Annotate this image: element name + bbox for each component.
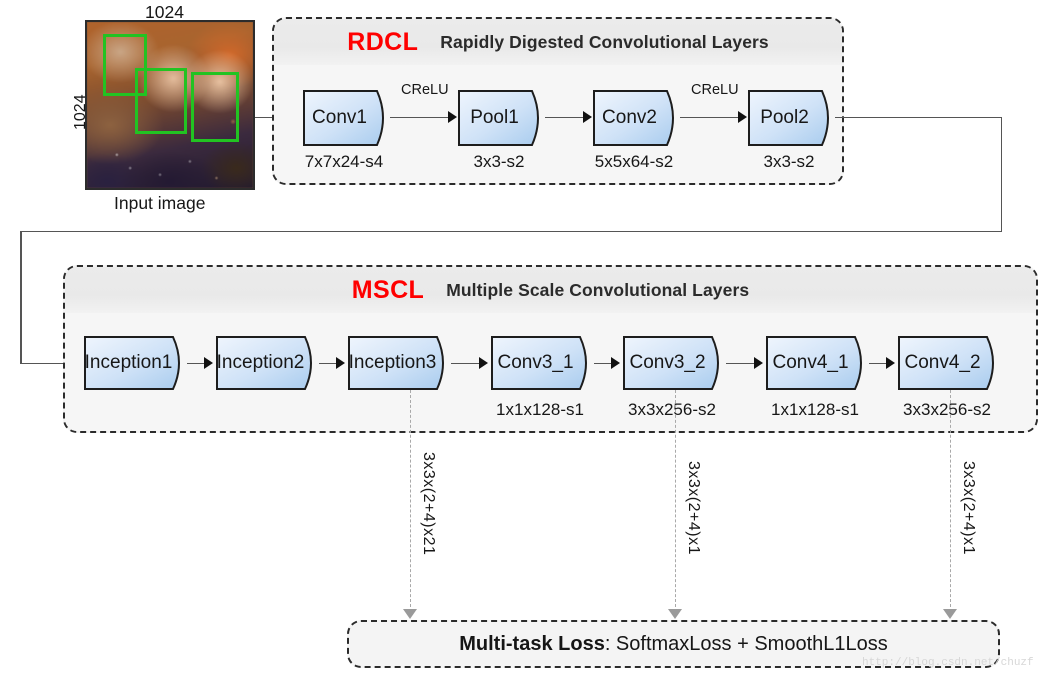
arrow-conv2-pool2 (738, 111, 747, 123)
arrow-pool1-conv2 (583, 111, 592, 123)
wire-conv1-pool1 (390, 117, 455, 119)
layer-shape (766, 336, 876, 390)
layer-spec-pool1: 3x3-s2 (442, 152, 556, 172)
branch-line-inception3 (410, 390, 411, 612)
watermark: http://blog.csdn.net/chuzf (862, 657, 1034, 669)
face-bounding-box (135, 68, 187, 134)
loss-body: : SoftmaxLoss + SmoothL1Loss (605, 633, 888, 655)
input-image (85, 20, 255, 190)
layer-conv3_2[interactable]: Conv3_2 (623, 336, 721, 390)
branch-label-conv4_2: 3x3x(2+4)x1 (959, 461, 977, 555)
wire-pool2-right (835, 117, 1002, 119)
rdcl-full-name: Rapidly Digested Convolutional Layers (440, 32, 768, 53)
layer-conv3_1[interactable]: Conv3_1 (491, 336, 589, 390)
layer-inception2[interactable]: Inception2 (216, 336, 314, 390)
layer-shape (748, 90, 840, 146)
layer-shape (898, 336, 1008, 390)
layer-spec-conv1: 7x7x24-s4 (287, 152, 401, 172)
mscl-full-name: Multiple Scale Convolutional Layers (446, 280, 749, 301)
branch-line-conv3_2 (675, 390, 676, 612)
layer-shape (216, 336, 326, 390)
layer-shape (84, 336, 194, 390)
layer-shape (491, 336, 601, 390)
layer-spec-conv3_2: 3x3x256-s2 (613, 400, 731, 420)
layer-shape (623, 336, 733, 390)
arrow-conv1-pool1 (448, 111, 457, 123)
layer-inception1[interactable]: Inception1 (84, 336, 182, 390)
mscl-acronym: MSCL (352, 276, 424, 305)
layer-shape (593, 90, 685, 146)
arrow-conv3_2-conv4_1 (754, 357, 763, 369)
wire-left-down (20, 231, 22, 364)
activation-crelu-2: CReLU (691, 82, 739, 98)
layer-spec-conv3_1: 1x1x128-s1 (481, 400, 599, 420)
layer-shape (348, 336, 458, 390)
branch-arrow-inception3 (403, 609, 417, 619)
layer-conv4_2[interactable]: Conv4_2 (898, 336, 996, 390)
arrow-inception2-inception3 (336, 357, 345, 369)
layer-shape (458, 90, 550, 146)
face-bounding-box (191, 72, 239, 142)
layer-pool1[interactable]: Pool1 (458, 90, 540, 146)
layer-shape (303, 90, 395, 146)
arrow-conv4_1-conv4_2 (886, 357, 895, 369)
layer-conv1[interactable]: Conv1 (303, 90, 385, 146)
branch-label-inception3: 3x3x(2+4)x21 (419, 452, 437, 555)
mscl-header: MSCL Multiple Scale Convolutional Layers (65, 267, 1036, 313)
wire-conv2-pool2 (680, 117, 745, 119)
loss-title: Multi-task Loss (459, 633, 605, 655)
layer-pool2[interactable]: Pool2 (748, 90, 830, 146)
branch-arrow-conv4_2 (943, 609, 957, 619)
layer-conv2[interactable]: Conv2 (593, 90, 675, 146)
activation-crelu-1: CReLU (401, 82, 449, 98)
layer-conv4_1[interactable]: Conv4_1 (766, 336, 864, 390)
layer-spec-pool2: 3x3-s2 (732, 152, 846, 172)
input-image-caption: Input image (114, 193, 205, 214)
wire-right-down (1001, 117, 1003, 232)
rdcl-acronym: RDCL (347, 28, 418, 57)
wire-top-return (20, 231, 1001, 233)
rdcl-header: RDCL Rapidly Digested Convolutional Laye… (274, 19, 842, 65)
layer-inception3[interactable]: Inception3 (348, 336, 446, 390)
loss-text: Multi-task Loss: SoftmaxLoss + SmoothL1L… (459, 633, 888, 656)
arrow-conv3_1-conv3_2 (611, 357, 620, 369)
branch-line-conv4_2 (950, 390, 951, 612)
branch-arrow-conv3_2 (668, 609, 682, 619)
diagram-canvas: 1024 1024 Input image RDCL Rapidly Diges… (0, 0, 1050, 684)
layer-spec-conv2: 5x5x64-s2 (577, 152, 691, 172)
layer-spec-conv4_1: 1x1x128-s1 (756, 400, 874, 420)
branch-label-conv3_2: 3x3x(2+4)x1 (684, 461, 702, 555)
arrow-inception3-conv3_1 (479, 357, 488, 369)
arrow-inception1-inception2 (204, 357, 213, 369)
layer-spec-conv4_2: 3x3x256-s2 (888, 400, 1006, 420)
